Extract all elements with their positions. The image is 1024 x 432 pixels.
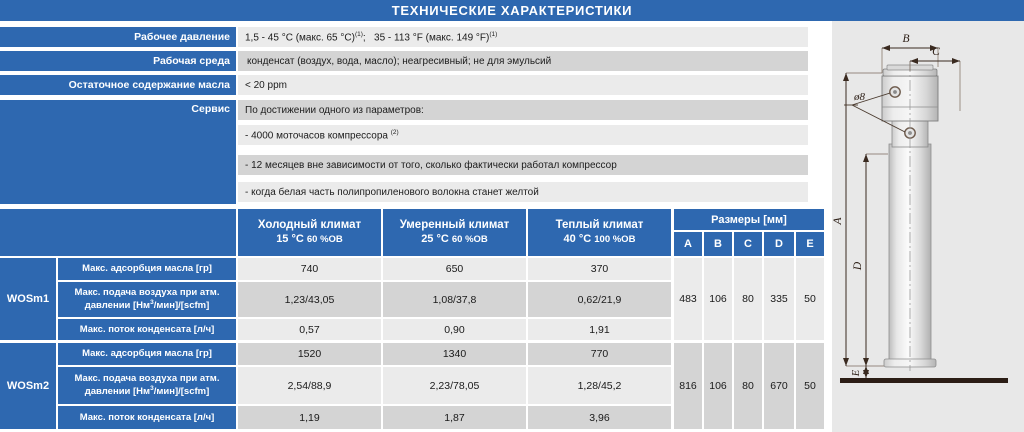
spec-value-medium: конденсат (воздух, вода, масло); неагрес… — [238, 51, 808, 71]
drawing-svg: ø8 B C A D E — [832, 21, 1024, 432]
dim-value-a-m1: 483 — [674, 258, 702, 340]
table-cell: 2,23/78,05 — [383, 367, 526, 404]
table-cell: 1,91 — [528, 319, 671, 340]
dim-value-a-m2: 816 — [674, 343, 702, 429]
param-label-air-flow-m2: Макс. подача воздуха при атм. давлении [… — [58, 367, 236, 404]
table-cell: 1,08/37,8 — [383, 282, 526, 317]
table-cell: 1,87 — [383, 406, 526, 429]
service-line-0: По достижении одного из параметров: — [238, 100, 808, 120]
table-cell: 1,19 — [238, 406, 381, 429]
moderate-climate-conditions: 25 °C 60 %ОВ — [421, 233, 488, 247]
label-d: D — [852, 261, 864, 271]
label-bore: ø8 — [853, 91, 866, 103]
table-cell: 1340 — [383, 343, 526, 365]
param-label-air-flow-m1: Макс. подача воздуха при атм. давлении [… — [58, 282, 236, 317]
table-cell: 0,57 — [238, 319, 381, 340]
cold-climate-conditions: 15 °C 60 %ОВ — [276, 233, 343, 247]
dim-value-d-m2: 670 — [764, 343, 794, 429]
param-label-oil-adsorption-m1: Макс. адсорбция масла [гр] — [58, 258, 236, 280]
spec-label-residual-oil: Остаточное содержание масла — [0, 75, 236, 95]
label-c: C — [932, 46, 940, 58]
spec-sheet: ТЕХНИЧЕСКИЕ ХАРАКТЕРИСТИКИ Рабочее давле… — [0, 0, 1024, 432]
spec-value-working-pressure: 1,5 - 45 °C (макс. 65 °C)(1); 35 - 113 °… — [238, 27, 808, 47]
product-technical-drawing: ø8 B C A D E — [832, 21, 1024, 432]
table-cell: 2,54/88,9 — [238, 367, 381, 404]
dim-header-d: D — [764, 232, 794, 256]
param-label-condensate-flow-m1: Макс. поток конденсата [л/ч] — [58, 319, 236, 340]
spec-label-service: Сервис — [0, 100, 236, 204]
dim-value-b-m2: 106 — [704, 343, 732, 429]
dim-header-e: E — [796, 232, 824, 256]
table-cell: 770 — [528, 343, 671, 365]
table-cell: 3,96 — [528, 406, 671, 429]
column-header-cold-climate: Холодный климат 15 °C 60 %ОВ — [238, 209, 381, 256]
column-header-dimensions: Размеры [мм] — [674, 209, 824, 230]
table-cell: 1,28/45,2 — [528, 367, 671, 404]
table-cell: 650 — [383, 258, 526, 280]
label-b: B — [902, 33, 909, 45]
param-label-air-flow-m1-line2: давлении [Нм3/мин]/[scfm] — [85, 299, 210, 312]
model-name-wosm2: WOSm2 — [0, 343, 56, 429]
service-line-1-text: - 4000 моточасов компрессора (2) — [245, 129, 399, 141]
table-cell: 370 — [528, 258, 671, 280]
dim-header-a: A — [674, 232, 702, 256]
table-cell: 0,90 — [383, 319, 526, 340]
dim-value-c-m1: 80 — [734, 258, 762, 340]
warm-climate-conditions: 40 °C 100 %ОВ — [564, 233, 636, 247]
page-title-bar: ТЕХНИЧЕСКИЕ ХАРАКТЕРИСТИКИ — [0, 0, 1024, 21]
model-name-wosm1: WOSm1 — [0, 258, 56, 340]
column-header-moderate-climate: Умеренный климат 25 °C 60 %ОВ — [383, 209, 526, 256]
dim-value-e-m2: 50 — [796, 343, 824, 429]
page-title: ТЕХНИЧЕСКИЕ ХАРАКТЕРИСТИКИ — [392, 3, 632, 18]
dim-value-e-m1: 50 — [796, 258, 824, 340]
param-label-condensate-flow-m2: Макс. поток конденсата [л/ч] — [58, 406, 236, 429]
service-line-2: - 12 месяцев вне зависимости от того, ск… — [238, 155, 808, 175]
table-cell: 740 — [238, 258, 381, 280]
label-a: A — [832, 217, 844, 226]
table-cell: 1,23/43,05 — [238, 282, 381, 317]
spec-value-text: 1,5 - 45 °C (макс. 65 °C)(1); 35 - 113 °… — [245, 31, 497, 43]
table-cell: 0,62/21,9 — [528, 282, 671, 317]
service-line-3: - когда белая часть полипропиленового во… — [238, 182, 808, 202]
spec-label-working-pressure: Рабочее давление — [0, 27, 236, 47]
service-line-1: - 4000 моточасов компрессора (2) — [238, 125, 808, 145]
dim-header-c: C — [734, 232, 762, 256]
spec-label-medium: Рабочая среда — [0, 51, 236, 71]
table-cell: 1520 — [238, 343, 381, 365]
table-corner-blank — [0, 209, 236, 256]
label-e: E — [851, 369, 862, 377]
spec-value-residual-oil: < 20 ppm — [238, 75, 808, 95]
param-label-air-flow-m2-line2: давлении [Нм3/мин]/[scfm] — [85, 385, 210, 398]
column-header-warm-climate: Теплый климат 40 °C 100 %ОВ — [528, 209, 671, 256]
dim-value-d-m1: 335 — [764, 258, 794, 340]
ground-line — [840, 378, 1008, 383]
dim-header-b: B — [704, 232, 732, 256]
dim-value-b-m1: 106 — [704, 258, 732, 340]
dim-value-c-m2: 80 — [734, 343, 762, 429]
param-label-oil-adsorption-m2: Макс. адсорбция масла [гр] — [58, 343, 236, 365]
